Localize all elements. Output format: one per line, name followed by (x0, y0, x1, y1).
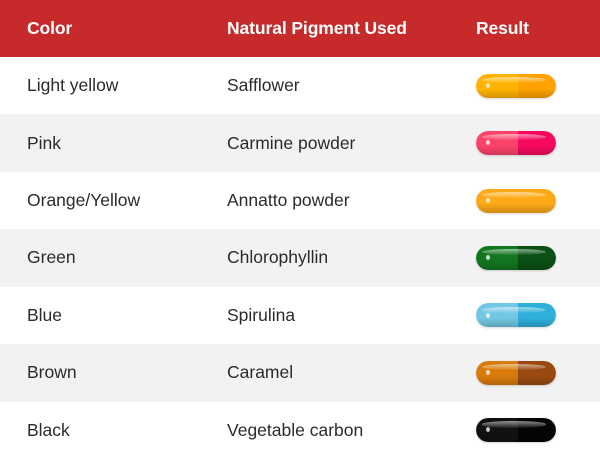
cell-color: Pink (0, 133, 200, 154)
table-header-row: Color Natural Pigment Used Result (0, 0, 600, 57)
cell-result (476, 418, 600, 442)
table-row: Blue Spirulina (0, 287, 600, 344)
capsule-icon (476, 246, 556, 270)
cell-result (476, 303, 600, 327)
capsule-icon (476, 74, 556, 98)
capsule-cap-half (518, 303, 556, 327)
cell-pigment: Chlorophyllin (200, 247, 476, 268)
capsule-body-half (476, 74, 521, 98)
cell-result (476, 74, 600, 98)
capsule-icon (476, 418, 556, 442)
cell-color: Brown (0, 362, 200, 383)
table-row: Black Vegetable carbon (0, 402, 600, 459)
capsule-body-half (476, 418, 521, 442)
cell-color: Orange/Yellow (0, 190, 200, 211)
pigment-color-table: Color Natural Pigment Used Result Light … (0, 0, 600, 459)
capsule-cap-half (518, 361, 556, 385)
column-header-natural-pigment-used: Natural Pigment Used (200, 18, 476, 39)
capsule-body-half (476, 303, 521, 327)
capsule-cap-half (518, 418, 556, 442)
table-row: Pink Carmine powder (0, 114, 600, 171)
cell-result (476, 131, 600, 155)
table-row: Light yellow Safflower (0, 57, 600, 114)
capsule-cap-half (518, 131, 556, 155)
cell-color: Light yellow (0, 75, 200, 96)
table-row: Green Chlorophyllin (0, 229, 600, 286)
cell-color: Green (0, 247, 200, 268)
column-header-result: Result (476, 18, 600, 39)
capsule-icon (476, 189, 556, 213)
cell-result (476, 189, 600, 213)
table-row: Brown Caramel (0, 344, 600, 401)
table-body: Light yellow Safflower Pink Carmine powd… (0, 57, 600, 459)
capsule-body-half (476, 361, 521, 385)
capsule-body-half (476, 246, 521, 270)
capsule-icon (476, 303, 556, 327)
cell-color: Blue (0, 305, 200, 326)
table-row: Orange/Yellow Annatto powder (0, 172, 600, 229)
cell-result (476, 246, 600, 270)
cell-result (476, 361, 600, 385)
capsule-icon (476, 361, 556, 385)
capsule-cap-half (518, 74, 556, 98)
capsule-body-half (476, 131, 521, 155)
cell-pigment: Annatto powder (200, 190, 476, 211)
cell-pigment: Vegetable carbon (200, 420, 476, 441)
cell-pigment: Caramel (200, 362, 476, 383)
capsule-body-half (476, 189, 521, 213)
column-header-color: Color (0, 18, 200, 39)
capsule-icon (476, 131, 556, 155)
cell-color: Black (0, 420, 200, 441)
cell-pigment: Safflower (200, 75, 476, 96)
cell-pigment: Spirulina (200, 305, 476, 326)
capsule-cap-half (518, 246, 556, 270)
capsule-cap-half (518, 189, 556, 213)
cell-pigment: Carmine powder (200, 133, 476, 154)
